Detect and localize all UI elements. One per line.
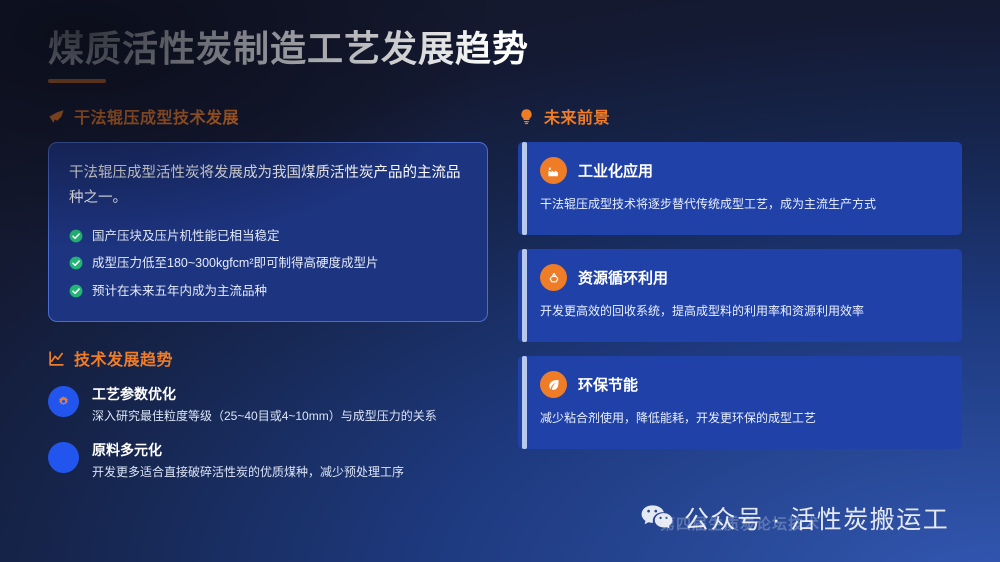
- list-item: 国产压块及压片机性能已相当稳定: [69, 223, 467, 250]
- trend-title: 原料多元化: [92, 440, 488, 460]
- card-description: 开发更高效的回收系统，提高成型料的利用率和资源利用效率: [540, 302, 944, 321]
- lightbulb-icon: [518, 108, 535, 125]
- card-header: 工业化应用: [540, 157, 944, 184]
- outlook-card-industrial: 工业化应用 干法辊压成型技术将逐步替代传统成型工艺，成为主流生产方式: [518, 142, 962, 235]
- check-circle-icon: [69, 229, 83, 243]
- card-description: 干法辊压成型技术将逐步替代传统成型工艺，成为主流生产方式: [540, 195, 944, 214]
- dry-rolling-panel: 干法辊压成型活性炭将发展成为我国煤质活性炭产品的主流品种之一。 国产压块及压片机…: [48, 142, 488, 322]
- outlook-card-recycling: 资源循环利用 开发更高效的回收系统，提高成型料的利用率和资源利用效率: [518, 249, 962, 342]
- slide-canvas: 煤质活性炭制造工艺发展趋势 干法辊压成型技术发展 干法辊压成型活性炭将发展成为我…: [0, 0, 1000, 562]
- list-item-label: 成型压力低至180~300kgfcm²即可制得高硬度成型片: [92, 254, 379, 273]
- trend-text-block: 原料多元化 开发更多适合直接破碎活性炭的优质煤种，减少预处理工序: [92, 440, 488, 482]
- rocket-icon: [48, 108, 65, 125]
- wechat-icon: [641, 504, 673, 532]
- section-header-label: 干法辊压成型技术发展: [74, 104, 239, 128]
- card-header: 资源循环利用: [540, 264, 944, 291]
- check-circle-icon: [69, 284, 83, 298]
- check-circle-icon: [69, 256, 83, 270]
- card-header: 环保节能: [540, 371, 944, 398]
- list-item: 成型压力低至180~300kgfcm²即可制得高硬度成型片: [69, 250, 467, 277]
- trend-description: 开发更多适合直接破碎活性炭的优质煤种，减少预处理工序: [92, 463, 488, 482]
- section-header-tech-trends: 技术发展趋势: [48, 346, 488, 370]
- panel-lead-text: 干法辊压成型活性炭将发展成为我国煤质活性炭产品的主流品种之一。: [69, 161, 467, 211]
- section-header-label: 技术发展趋势: [74, 346, 173, 370]
- title-underline: [48, 79, 106, 83]
- wechat-watermark: 公众号 · 活性炭搬运工: [641, 500, 949, 536]
- bullet-list: 国产压块及压片机性能已相当稳定 成型压力低至180~300kgfcm²即可制得高…: [69, 223, 467, 305]
- list-item-label: 预计在未来五年内成为主流品种: [92, 282, 267, 301]
- page-title: 煤质活性炭制造工艺发展趋势: [48, 28, 529, 69]
- trend-item-feedstock-diversification: 原料多元化 开发更多适合直接破碎活性炭的优质煤种，减少预处理工序: [48, 440, 488, 482]
- outlook-card-eco-energy: 环保节能 减少粘合剂使用，降低能耗，开发更环保的成型工艺: [518, 356, 962, 449]
- section-header-dry-rolling: 干法辊压成型技术发展: [48, 104, 488, 128]
- card-accent-bar: [522, 356, 527, 449]
- leaf-icon: [540, 371, 567, 398]
- card-title: 工业化应用: [578, 160, 653, 181]
- card-title: 资源循环利用: [578, 267, 668, 288]
- card-description: 减少粘合剂使用，降低能耗，开发更环保的成型工艺: [540, 409, 944, 428]
- recycle-icon: [540, 264, 567, 291]
- left-column: 干法辊压成型技术发展 干法辊压成型活性炭将发展成为我国煤质活性炭产品的主流品种之…: [48, 104, 488, 496]
- card-accent-bar: [522, 249, 527, 342]
- chart-line-icon: [48, 350, 65, 367]
- right-column: 未来前景 工业化应用 干法辊压成型技术将逐步替代传统成型工艺，成为主流生产方式: [518, 104, 962, 463]
- list-item: 预计在未来五年内成为主流品种: [69, 278, 467, 305]
- section-header-label: 未来前景: [544, 104, 610, 128]
- section-header-future-outlook: 未来前景: [518, 104, 962, 128]
- list-item-label: 国产压块及压片机性能已相当稳定: [92, 227, 280, 246]
- gear-icon: [48, 386, 79, 417]
- card-accent-bar: [522, 142, 527, 235]
- trend-title: 工艺参数优化: [92, 384, 488, 404]
- trend-item-process-params: 工艺参数优化 深入研究最佳粒度等级（25~40目或4~10mm）与成型压力的关系: [48, 384, 488, 426]
- trend-text-block: 工艺参数优化 深入研究最佳粒度等级（25~40目或4~10mm）与成型压力的关系: [92, 384, 488, 426]
- card-title: 环保节能: [578, 374, 638, 395]
- page-title-block: 煤质活性炭制造工艺发展趋势: [48, 28, 529, 83]
- trend-description: 深入研究最佳粒度等级（25~40目或4~10mm）与成型压力的关系: [92, 407, 488, 426]
- factory-icon: [540, 157, 567, 184]
- wechat-watermark-label: 公众号 · 活性炭搬运工: [684, 500, 949, 536]
- dot-icon: [48, 442, 79, 473]
